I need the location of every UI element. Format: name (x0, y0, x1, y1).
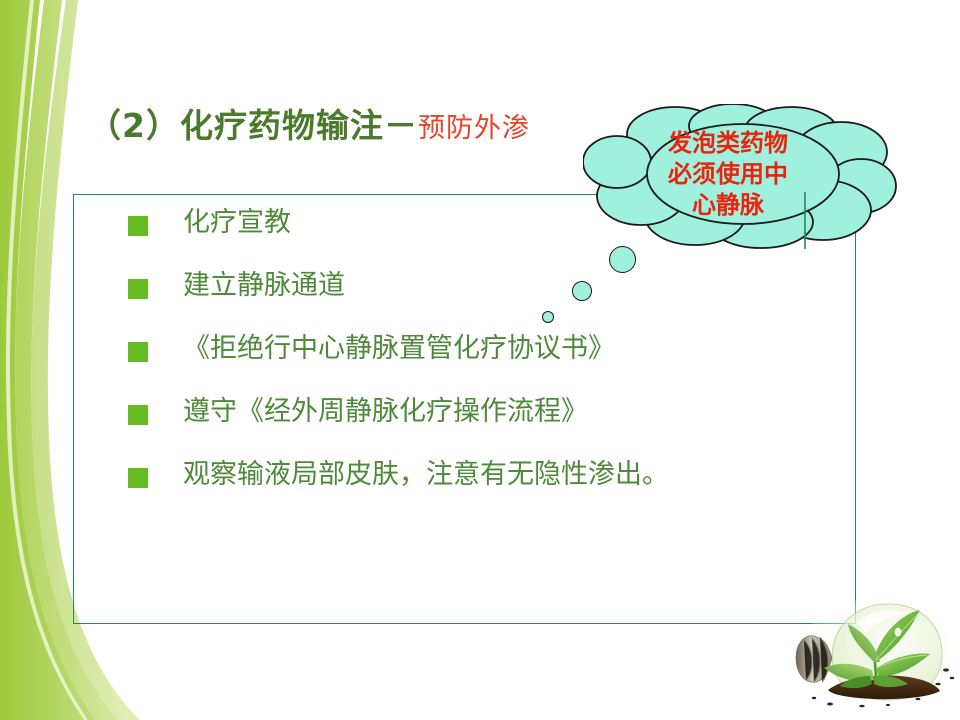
slide-canvas: （2）化疗药物输注－预防外渗 化疗宣教 建立静脉通道 《拒绝行中心静脉置管化疗协… (0, 0, 960, 720)
page-title-accent: 预防外渗 (418, 113, 530, 144)
list-item[interactable]: 《拒绝行中心静脉置管化疗协议书》 (128, 332, 828, 395)
thought-bubble-cloud (583, 104, 901, 249)
square-bullet-icon (128, 468, 148, 488)
square-bullet-icon (128, 342, 148, 362)
square-bullet-icon (128, 216, 148, 236)
list-item[interactable]: 遵守《经外周静脉化疗操作流程》 (128, 395, 828, 458)
thought-trail-dot-medium (572, 281, 592, 301)
list-item-label: 化疗宣教 (183, 206, 291, 240)
page-title: （2）化疗药物输注－预防外渗 (88, 104, 530, 151)
list-item[interactable]: 观察输液局部皮肤，注意有无隐性渗出。 (128, 458, 828, 492)
list-item-label: 建立静脉通道 (183, 269, 345, 303)
thought-trail-dot-large (609, 246, 636, 273)
thought-trail-dot-small (542, 311, 554, 323)
page-title-main: （2）化疗药物输注－ (88, 106, 418, 145)
list-item[interactable]: 建立静脉通道 (128, 269, 828, 332)
list-item-label: 观察输液局部皮肤，注意有无隐性渗出。 (183, 458, 669, 492)
square-bullet-icon (128, 405, 148, 425)
list-item-label: 《拒绝行中心静脉置管化疗协议书》 (183, 332, 615, 366)
list-item-label: 遵守《经外周静脉化疗操作流程》 (183, 395, 588, 429)
square-bullet-icon (128, 279, 148, 299)
